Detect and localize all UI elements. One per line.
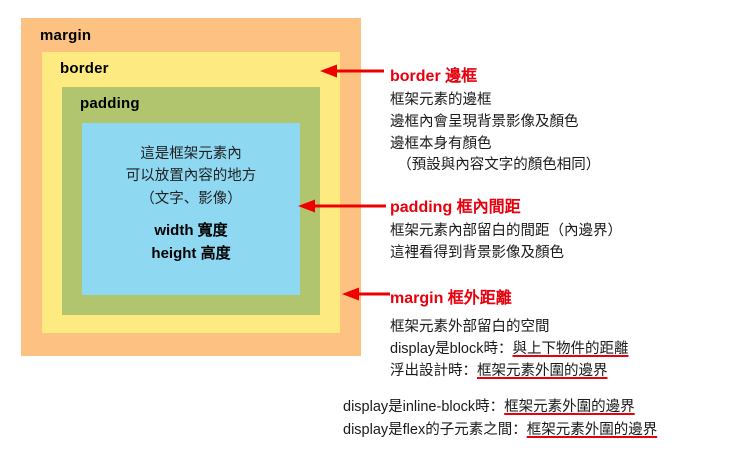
- border-layer-label: border: [60, 60, 109, 77]
- margin-tail-emphasis-1: 框架元素外圍的邊界: [504, 399, 635, 415]
- margin-tail-line-1: display是inline-block時：框架元素外圍的邊界: [343, 396, 657, 419]
- margin-tail-line-2: display是flex的子元素之間：框架元素外圍的邊界: [343, 419, 657, 442]
- content-layer-box: 這是框架元素內 可以放置內容的地方 （文字、影像） width 寬度 heigh…: [82, 123, 300, 295]
- content-text-line-3: （文字、影像）: [140, 188, 242, 210]
- annotation-margin-line-1: 框架元素外部留白的空間: [390, 317, 629, 339]
- margin-detail-emphasis-2: 框架元素外圍的邊界: [477, 363, 608, 379]
- margin-layer-label: margin: [40, 27, 91, 44]
- margin-tail-lines: display是inline-block時：框架元素外圍的邊界 display是…: [343, 396, 657, 443]
- content-text-line-2: 可以放置內容的地方: [126, 165, 257, 187]
- annotation-border-line-2: 邊框內會呈現背景影像及顏色: [390, 112, 600, 134]
- annotation-padding-line-1: 框架元素內部留白的間距（內邊界）: [390, 221, 622, 243]
- margin-detail-emphasis-1: 與上下物件的距離: [513, 341, 629, 357]
- content-height-label: height 高度: [151, 243, 230, 266]
- padding-layer-label: padding: [80, 95, 140, 112]
- margin-detail-prefix-2: 浮出設計時：: [390, 363, 477, 379]
- annotation-margin-detail-1: display是block時：與上下物件的距離: [390, 339, 629, 361]
- annotation-body-margin: 框架元素外部留白的空間 display是block時：與上下物件的距離 浮出設計…: [390, 317, 629, 382]
- annotation-padding-line-2: 這裡看得到背景影像及顏色: [390, 243, 622, 265]
- margin-tail-prefix-1: display是inline-block時：: [343, 399, 504, 415]
- annotation-body-border: 框架元素的邊框 邊框內會呈現背景影像及顏色 邊框本身有顏色 （預設與內容文字的顏…: [390, 90, 600, 177]
- padding-pointer-arrow-icon: [296, 199, 386, 211]
- annotation-border-line-3: 邊框本身有顏色: [390, 134, 600, 156]
- annotation-title-margin: margin 框外距離: [390, 284, 512, 308]
- annotation-body-padding: 框架元素內部留白的間距（內邊界） 這裡看得到背景影像及顏色: [390, 221, 622, 265]
- annotation-title-border: border 邊框: [390, 62, 477, 86]
- annotation-title-padding: padding 框內間距: [390, 193, 521, 217]
- margin-detail-prefix-1: display是block時：: [390, 341, 513, 357]
- box-model-diagram: 這是框架元素內 可以放置內容的地方 （文字、影像） width 寬度 heigh…: [0, 0, 380, 380]
- content-width-label: width 寬度: [154, 220, 227, 243]
- annotation-border-line-4: （預設與內容文字的顏色相同）: [390, 155, 600, 177]
- margin-tail-emphasis-2: 框架元素外圍的邊界: [527, 422, 658, 438]
- content-text-line-1: 這是框架元素內: [140, 143, 242, 165]
- annotation-border-line-1: 框架元素的邊框: [390, 90, 600, 112]
- border-pointer-arrow-icon: [318, 64, 384, 76]
- annotation-margin-detail-2: 浮出設計時：框架元素外圍的邊界: [390, 361, 629, 383]
- padding-layer-box: 這是框架元素內 可以放置內容的地方 （文字、影像） width 寬度 heigh…: [62, 87, 320, 315]
- margin-tail-prefix-2: display是flex的子元素之間：: [343, 422, 527, 438]
- margin-pointer-arrow-icon: [340, 287, 390, 299]
